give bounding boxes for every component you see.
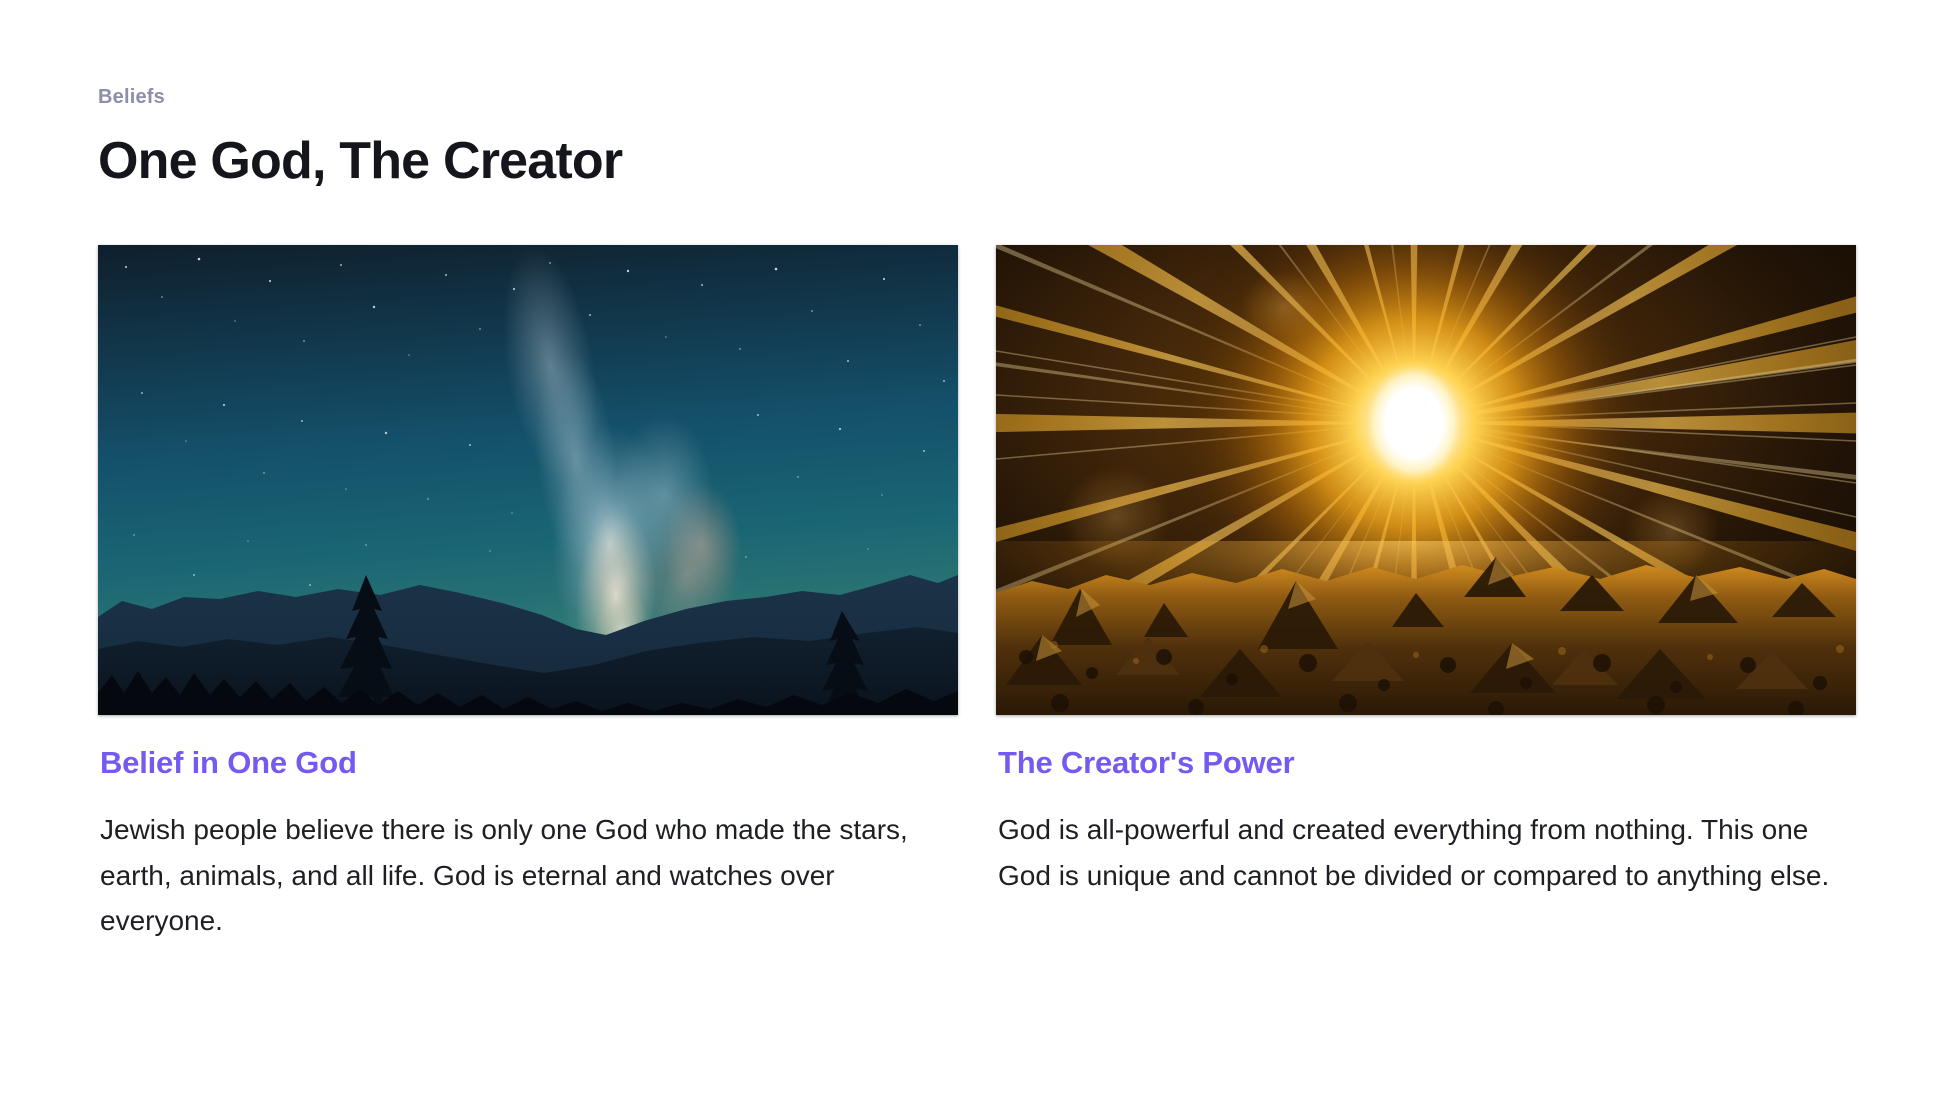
cards-grid: Belief in One God Jewish people believe … <box>98 245 1858 943</box>
sunburst-illustration <box>996 245 1856 715</box>
slide-root: Beliefs One God, The Creator <box>0 0 1946 1094</box>
card-body-text: God is all-powerful and created everythi… <box>998 807 1838 898</box>
card-title: The Creator's Power <box>998 744 1856 781</box>
card-the-creators-power: The Creator's Power God is all-powerful … <box>996 245 1856 943</box>
section-eyebrow-label: Beliefs <box>98 86 1858 108</box>
card-body-text: Jewish people believe there is only one … <box>100 807 940 943</box>
page-header: Beliefs One God, The Creator <box>98 86 1858 190</box>
page-title: One God, The Creator <box>98 132 1858 190</box>
night-sky-milky-way-image <box>98 245 958 715</box>
sunburst-over-rocky-ground-image <box>996 245 1856 715</box>
night-sky-illustration <box>98 245 958 715</box>
card-belief-in-one-god: Belief in One God Jewish people believe … <box>98 245 958 943</box>
card-title: Belief in One God <box>100 744 958 781</box>
